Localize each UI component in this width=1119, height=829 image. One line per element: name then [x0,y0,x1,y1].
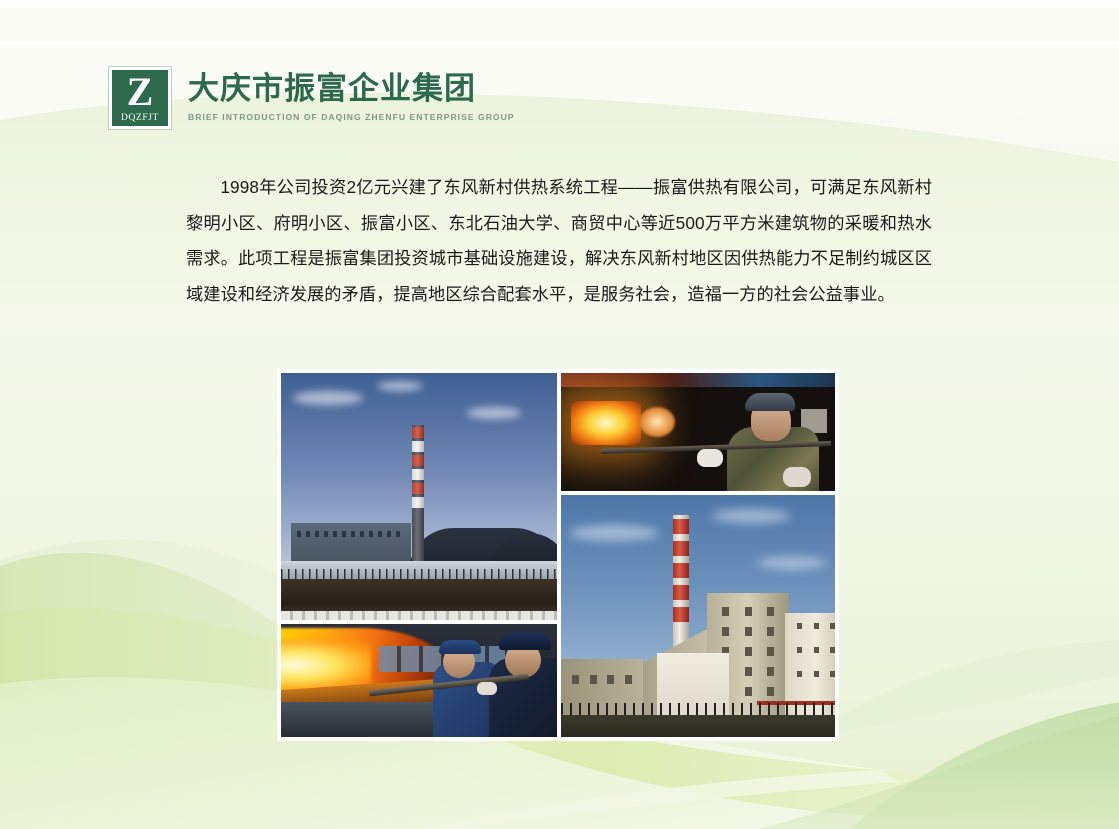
top-divider-line [0,41,1119,45]
dqzfjt-logo-icon: Z DQZFJT [108,66,172,130]
gallery-photo-two-workers-furnace[interactable] [281,624,557,737]
company-name: 大庆市振富企业集团 [188,70,515,108]
body-paragraph: 1998年公司投资2亿元兴建了东风新村供热系统工程——振富供热有限公司，可满足东… [186,170,932,312]
logo-abbreviation: DQZFJT [121,113,159,124]
slide-page: Z DQZFJT 大庆市振富企业集团 BRIEF INTRODUCTION OF… [0,0,1119,829]
photo-gallery [277,369,839,741]
company-subtitle: BRIEF INTRODUCTION OF DAQING ZHENFU ENTE… [188,111,515,123]
gallery-photo-boiler-house-building[interactable] [561,495,835,737]
top-tint-band [0,8,1119,42]
logo-letter: Z [127,72,154,112]
gallery-photo-plant-exterior-wide[interactable] [281,373,557,620]
brand-text-block: 大庆市振富企业集团 BRIEF INTRODUCTION OF DAQING Z… [188,66,515,123]
gallery-photo-furnace-operator[interactable] [561,373,835,491]
brand-header: Z DQZFJT 大庆市振富企业集团 BRIEF INTRODUCTION OF… [108,66,515,130]
